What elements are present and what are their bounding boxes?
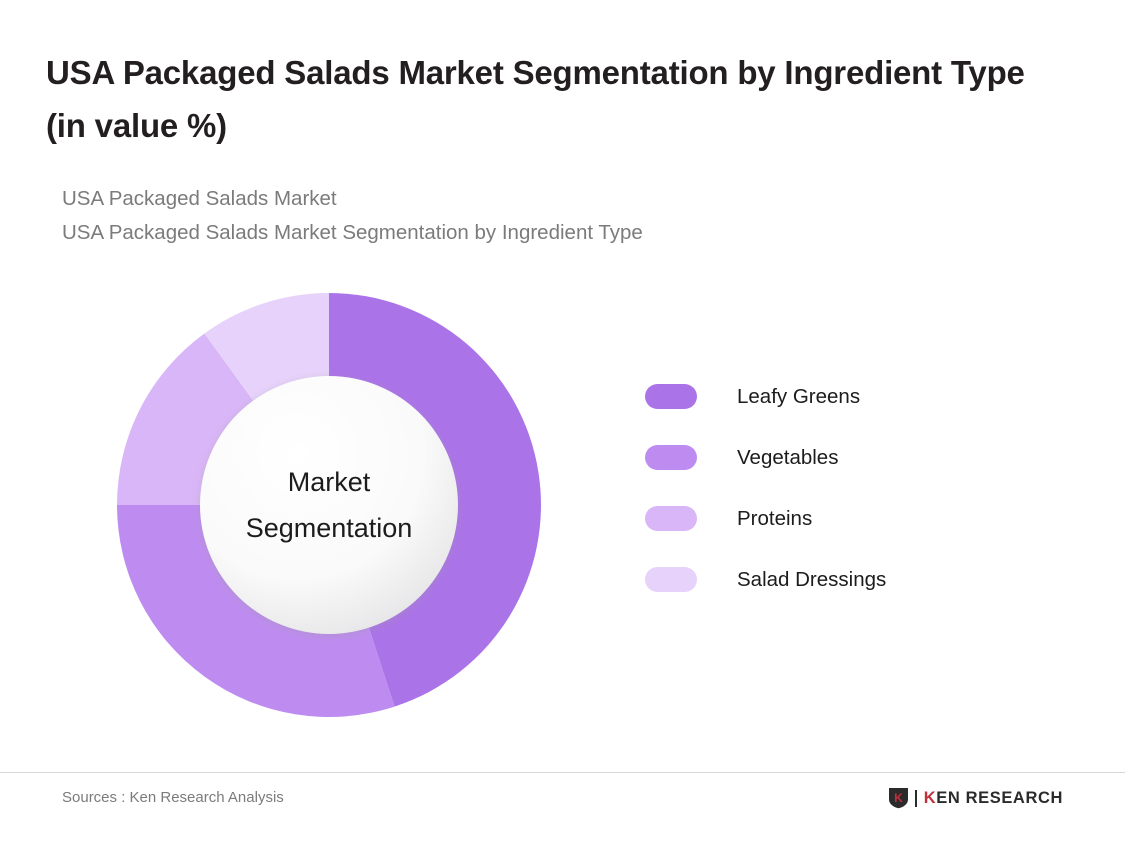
donut-center-label: Market Segmentation <box>214 459 444 551</box>
source-note: Sources : Ken Research Analysis <box>62 789 284 806</box>
slide-root: USA Packaged Salads Market Segmentation … <box>0 0 1125 843</box>
page-title: USA Packaged Salads Market Segmentation … <box>46 46 1046 153</box>
legend-label: Proteins <box>737 507 812 531</box>
svg-text:K: K <box>894 791 903 805</box>
donut-svg <box>113 289 545 721</box>
donut-center-hole <box>200 376 458 634</box>
legend-label: Leafy Greens <box>737 385 860 409</box>
brand-logo: K KEN RESEARCH <box>888 787 1063 809</box>
legend-swatch-icon <box>645 506 697 531</box>
subtitle-block: USA Packaged Salads Market USA Packaged … <box>62 182 962 250</box>
legend-item-salad-dressings[interactable]: Salad Dressings <box>645 549 886 610</box>
donut-slice-proteins[interactable] <box>117 333 329 505</box>
legend-item-vegetables[interactable]: Vegetables <box>645 427 886 488</box>
ken-research-shield-icon: K <box>888 787 909 809</box>
center-label-line-1: Market <box>214 459 444 505</box>
donut-slice-group <box>117 293 541 717</box>
legend-label: Salad Dressings <box>737 568 886 592</box>
legend-item-leafy-greens[interactable]: Leafy Greens <box>645 366 886 427</box>
chart-legend: Leafy GreensVegetablesProteinsSalad Dres… <box>645 366 886 610</box>
donut-chart: Market Segmentation <box>113 289 545 721</box>
legend-swatch-icon <box>645 384 697 409</box>
center-label-line-2: Segmentation <box>214 505 444 551</box>
brand-word-rest: EN RESEARCH <box>936 789 1063 807</box>
legend-swatch-icon <box>645 567 697 592</box>
legend-swatch-icon <box>645 445 697 470</box>
brand-divider <box>915 790 917 807</box>
donut-slice-salad-dressings[interactable] <box>204 293 329 505</box>
legend-label: Vegetables <box>737 446 838 470</box>
donut-slice-vegetables[interactable] <box>117 505 395 717</box>
brand-wordmark: KEN RESEARCH <box>924 789 1063 808</box>
brand-word-k: K <box>924 789 937 807</box>
footer-divider <box>0 772 1125 773</box>
subtitle-line-1: USA Packaged Salads Market <box>62 182 962 216</box>
donut-slice-leafy-greens[interactable] <box>329 293 541 707</box>
legend-item-proteins[interactable]: Proteins <box>645 488 886 549</box>
subtitle-line-2: USA Packaged Salads Market Segmentation … <box>62 216 962 250</box>
